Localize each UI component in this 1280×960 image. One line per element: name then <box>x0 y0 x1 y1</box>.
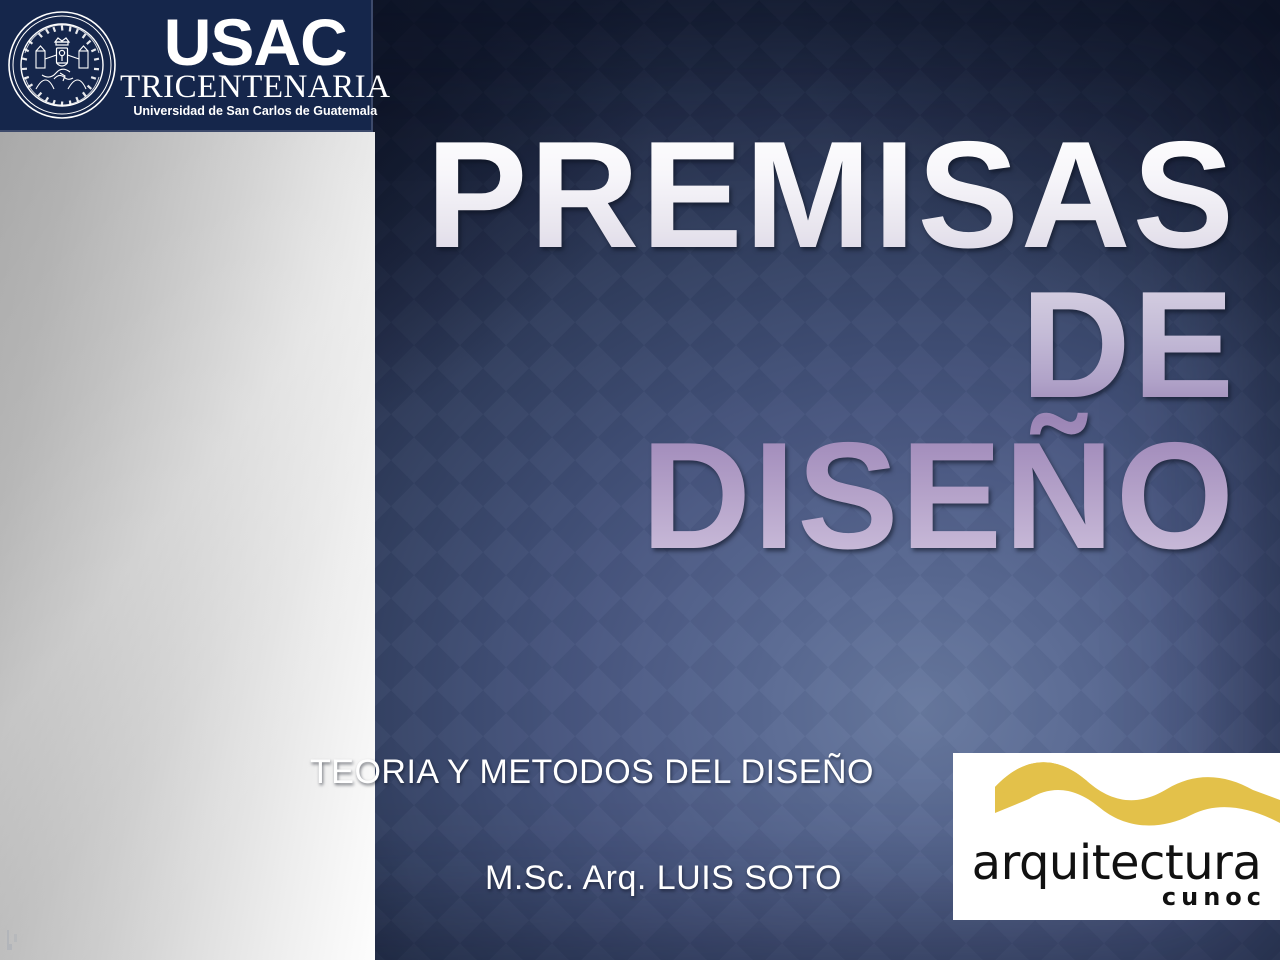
title-line-3: DISEÑO <box>420 421 1236 571</box>
faint-corner-mark-icon <box>4 928 22 954</box>
slide-title: PREMISAS DE DISEÑO <box>420 120 1236 571</box>
usac-seal-icon <box>6 9 118 121</box>
author-subtitle: M.Sc. Arq. LUIS SOTO <box>485 860 842 897</box>
course-subtitle: TEORIA Y METODOS DEL DISEÑO <box>310 754 874 791</box>
usac-university-name: Universidad de San Carlos de Guatemala <box>133 105 377 119</box>
arquitectura-wordmark: arquitectura <box>961 839 1272 887</box>
usac-acronym: USAC <box>164 11 347 73</box>
usac-logo: USAC TRICENTENARIA Universidad de San Ca… <box>0 0 373 132</box>
usac-tricentenaria: TRICENTENARIA <box>120 71 390 104</box>
arquitectura-cunoc-logo: arquitectura cunoc <box>953 753 1280 920</box>
usac-logo-wordmark: USAC TRICENTENARIA Universidad de San Ca… <box>118 11 396 119</box>
panel-sheen <box>0 132 375 960</box>
left-content-panel <box>0 132 375 960</box>
title-line-2: DE <box>420 270 1236 420</box>
cunoc-wordmark: cunoc <box>1162 885 1266 909</box>
title-line-1: PREMISAS <box>420 120 1236 270</box>
arquitectura-wave-icon <box>953 757 1280 845</box>
presentation-slide: USAC TRICENTENARIA Universidad de San Ca… <box>0 0 1280 960</box>
